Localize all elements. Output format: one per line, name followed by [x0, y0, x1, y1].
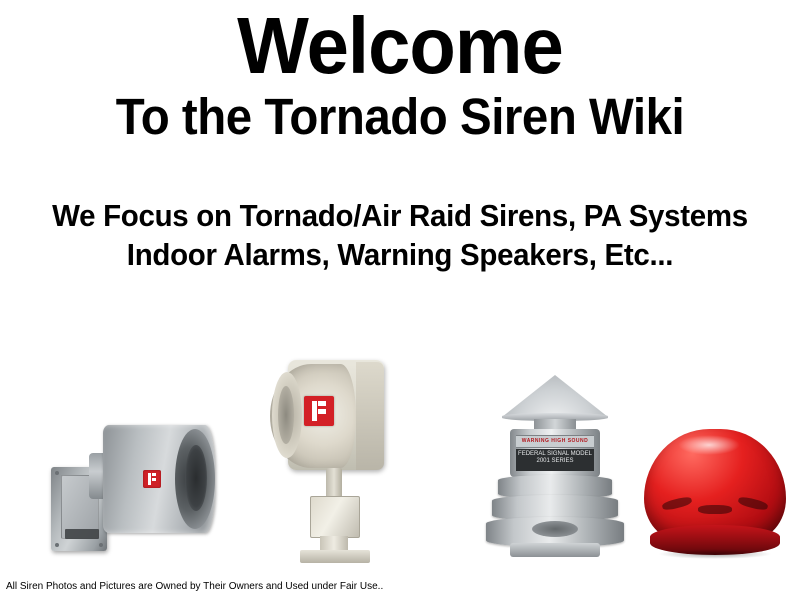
horn-mouth-interior	[278, 386, 294, 444]
tagline: We Focus on Tornado/Air Raid Sirens, PA …	[0, 196, 800, 275]
title-block: Welcome To the Tornado Siren Wiki	[0, 0, 800, 144]
fair-use-disclaimer: All Siren Photos and Pictures are Owned …	[6, 581, 383, 592]
siren-photo-box-mounted-horn-speaker	[45, 415, 220, 565]
horn-mouth-interior	[185, 445, 207, 511]
stand-base-plate	[300, 550, 370, 563]
model-nameplate: FEDERAL SIGNAL MODEL 2001 SERIES	[516, 449, 594, 471]
siren-base	[510, 543, 600, 557]
bolt-icon	[55, 543, 59, 547]
page-subtitle: To the Tornado Siren Wiki	[28, 90, 772, 144]
horn-rear-housing	[356, 362, 384, 470]
siren-vent	[532, 521, 578, 537]
welcome-page: Welcome To the Tornado Siren Wiki We Foc…	[0, 0, 800, 600]
federal-signal-logo-icon	[143, 470, 161, 488]
junction-box	[310, 496, 360, 538]
bolt-icon	[55, 471, 59, 475]
siren-photo-re-entrant-horn-speaker-on-stand	[270, 360, 415, 565]
drop-shadow	[658, 549, 772, 559]
driver-box-nameplate	[65, 529, 99, 539]
tagline-line-1: We Focus on Tornado/Air Raid Sirens, PA …	[20, 196, 780, 236]
sounder-sound-slot	[698, 505, 732, 514]
page-title: Welcome	[20, 8, 780, 84]
bolt-icon	[99, 543, 103, 547]
siren-rain-cap	[502, 375, 608, 417]
tagline-line-2: Indoor Alarms, Warning Speakers, Etc...	[20, 235, 780, 275]
siren-photo-omnidirectional-tiered-siren: WARNING HIGH SOUND LEVEL FEDERAL SIGNAL …	[480, 375, 630, 565]
warning-label: WARNING HIGH SOUND LEVEL	[516, 435, 594, 448]
dome-highlight	[678, 435, 740, 455]
siren-image-gallery: WARNING HIGH SOUND LEVEL FEDERAL SIGNAL …	[0, 330, 800, 565]
siren-photo-red-dome-sounder	[640, 425, 790, 565]
federal-signal-logo-icon	[304, 396, 334, 426]
